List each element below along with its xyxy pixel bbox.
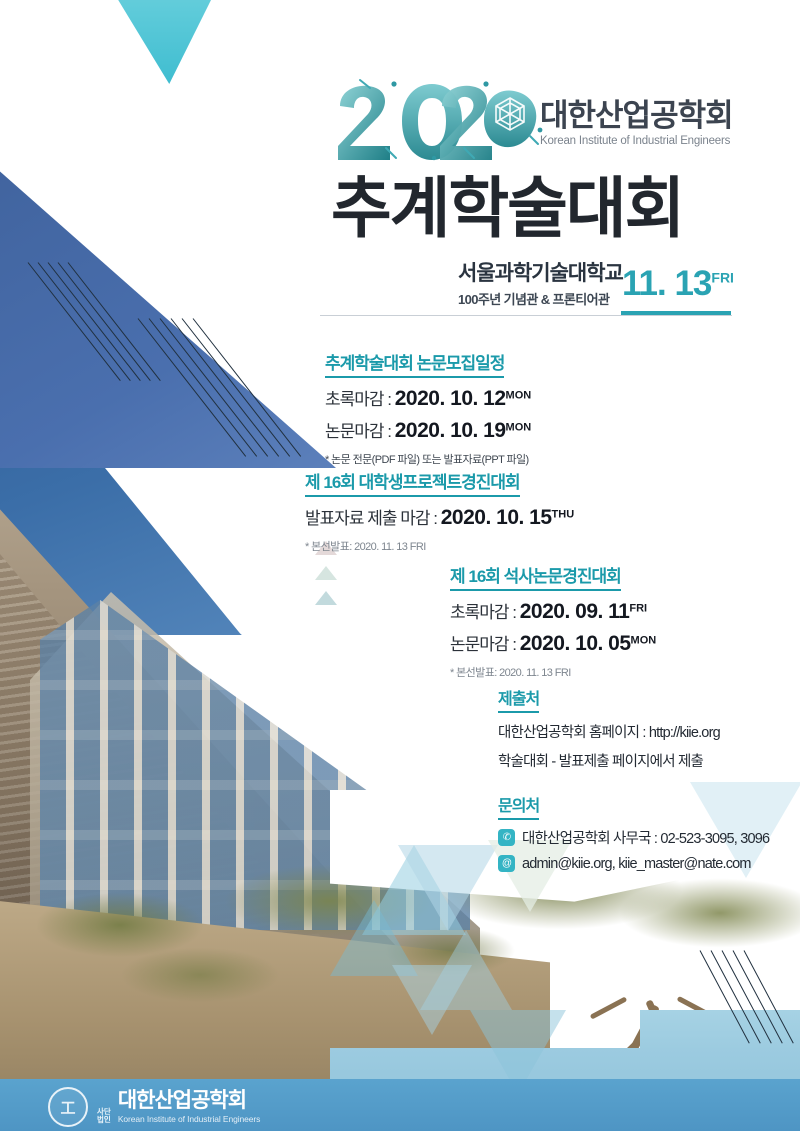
row-label: 논문마감 : <box>325 422 391 441</box>
contact-email-text[interactable]: admin@kiie.org, kiie_master@nate.com <box>522 856 751 872</box>
phone-icon: ✆ <box>498 829 515 846</box>
event-date: 11. 13FRI <box>622 266 734 301</box>
decor-triangle-7 <box>392 965 472 1035</box>
poster-footer: 工 사단 법인 대한산업공학회 Korean Institute of Indu… <box>0 1079 800 1131</box>
row-label: 초록마감 : <box>325 390 391 409</box>
poster-canvas: 대한산업공학회 Korean Institute of Industrial E… <box>0 0 800 1131</box>
event-date-value: 11. 13 <box>622 264 711 303</box>
row-value: 2020. 10. 15 <box>441 506 552 529</box>
schedule-row: 논문마감 : 2020. 10. 19MON <box>325 419 531 442</box>
submission-path: 학술대회 - 발표제출 페이지에서 제출 <box>498 750 720 771</box>
footer-name-en: Korean Institute of Industrial Engineers <box>118 1114 260 1124</box>
hatch-lines-right <box>700 950 800 1070</box>
page-title: 추계학술대회 <box>331 175 683 241</box>
section-note: * 논문 전문(PDF 파일) 또는 발표자료(PPT 파일) <box>325 451 531 467</box>
background-artwork <box>0 0 800 1131</box>
contact-email-line: @ admin@kiie.org, kiie_master@nate.com <box>498 855 769 872</box>
footer-name-kr: 대한산업공학회 <box>118 1090 260 1111</box>
schedule-row: 초록마감 : 2020. 10. 12MON <box>325 387 531 410</box>
submission-homepage: 대한산업공학회 홈페이지 : http://kiie.org <box>498 721 720 742</box>
organization-name-kr: 대한산업공학회 <box>540 100 733 131</box>
organization-name-en: Korean Institute of Industrial Engineers <box>540 135 733 147</box>
schedule-row: 논문마감 : 2020. 10. 05MON <box>450 632 656 655</box>
section-title: 추계학술대회 논문모집일정 <box>325 349 504 378</box>
section-contact: 문의처 ✆ 대한산업공학회 사무국 : 02-523-3095, 3096 @ … <box>498 792 769 872</box>
section-note-sub: * 본선발표: 2020. 11. 13 FRI <box>450 664 656 680</box>
section-title: 제 16회 대학생프로젝트경진대회 <box>305 468 520 497</box>
section-undergrad-project-contest: 제 16회 대학생프로젝트경진대회 발표자료 제출 마감 : 2020. 10.… <box>305 468 574 554</box>
row-dow: MON <box>506 389 532 401</box>
row-label: 논문마감 : <box>450 635 516 654</box>
accent-triangle-c <box>315 591 337 605</box>
hatch-lines-center <box>138 318 318 458</box>
footer-prefix-line2: 법인 <box>97 1116 111 1124</box>
section-conference-schedule: 추계학술대회 논문모집일정 초록마감 : 2020. 10. 12MON 논문마… <box>325 349 531 467</box>
organization-name: 대한산업공학회 Korean Institute of Industrial E… <box>540 100 733 147</box>
email-icon: @ <box>498 855 515 872</box>
schedule-row: 초록마감 : 2020. 09. 11FRI <box>450 600 656 623</box>
contact-title: 문의처 <box>498 792 539 820</box>
row-value: 2020. 09. 11 <box>520 600 630 623</box>
accent-triangle-b <box>315 566 337 580</box>
row-label: 초록마감 : <box>450 603 516 622</box>
section-title: 제 16회 석사논문경진대회 <box>450 562 621 591</box>
row-dow: MON <box>631 634 657 646</box>
row-dow: FRI <box>629 602 647 614</box>
event-date-dow: FRI <box>711 269 734 285</box>
submission-title: 제출처 <box>498 685 539 713</box>
row-value: 2020. 10. 19 <box>395 419 506 442</box>
row-value: 2020. 10. 05 <box>520 632 631 655</box>
section-submission: 제출처 대한산업공학회 홈페이지 : http://kiie.org 학술대회 … <box>498 685 720 771</box>
row-label: 발표자료 제출 마감 : <box>305 509 437 528</box>
row-dow: THU <box>552 508 575 520</box>
venue-info: 서울과학기술대학교 100주년 기념관 & 프론티어관 <box>458 262 623 308</box>
section-masters-thesis-contest: 제 16회 석사논문경진대회 초록마감 : 2020. 09. 11FRI 논문… <box>450 562 656 680</box>
year-logo-2020 <box>334 78 544 164</box>
row-value: 2020. 10. 12 <box>395 387 506 410</box>
venue-name: 서울과학기술대학교 <box>458 262 623 286</box>
row-dow: MON <box>506 421 532 433</box>
header-divider <box>320 315 732 316</box>
venue-detail: 100주년 기념관 & 프론티어관 <box>458 289 623 308</box>
schedule-row: 발표자료 제출 마감 : 2020. 10. 15THU <box>305 506 574 529</box>
section-note-sub: * 본선발표: 2020. 11. 13 FRI <box>305 538 574 554</box>
footer-logo-group: 工 사단 법인 대한산업공학회 Korean Institute of Indu… <box>48 1087 260 1127</box>
contact-phone-text: 대한산업공학회 사무국 : 02-523-3095, 3096 <box>522 827 769 848</box>
society-seal-icon: 工 <box>48 1087 88 1127</box>
contact-phone-line: ✆ 대한산업공학회 사무국 : 02-523-3095, 3096 <box>498 827 769 848</box>
